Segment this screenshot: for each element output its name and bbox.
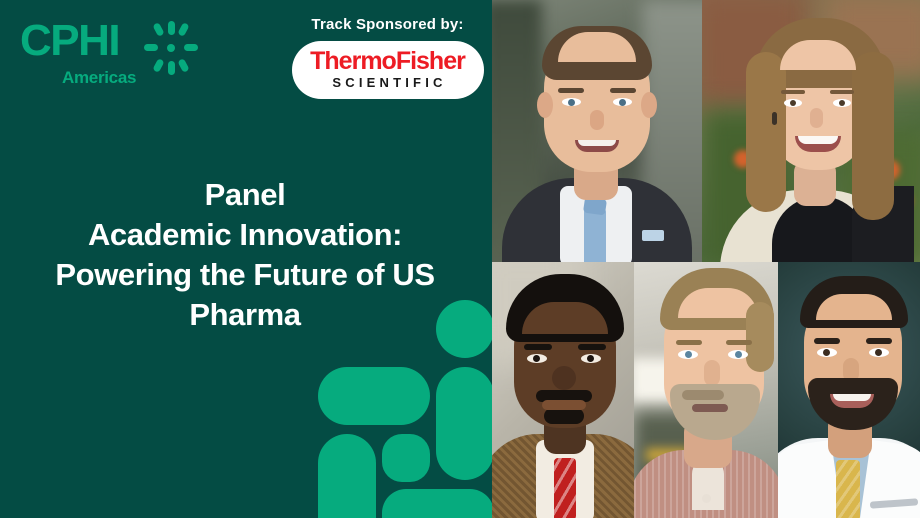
panelist-photo-4 bbox=[634, 262, 778, 518]
panelist-row-bottom bbox=[492, 262, 920, 518]
panelist-photo-3 bbox=[492, 262, 634, 518]
thermo-fisher-brand-sub: SCIENTIFIC bbox=[328, 75, 446, 91]
deco-pill-vertical-left bbox=[318, 434, 376, 518]
page-title: Panel Academic Innovation: Powering the … bbox=[10, 175, 480, 335]
headline-line-2: Academic Innovation: bbox=[10, 215, 480, 255]
panelist-photo-1 bbox=[492, 0, 702, 262]
thermo-fisher-brand-name: ThermoFisher bbox=[310, 49, 465, 74]
panelist-photo-2 bbox=[702, 0, 920, 262]
deco-pill-horizontal-bottom bbox=[382, 489, 492, 518]
left-content-panel: CPHI Americas Track Sponsored by: Thermo… bbox=[0, 0, 492, 518]
radial-burst-icon bbox=[144, 21, 198, 75]
headline-line-4: Pharma bbox=[10, 295, 480, 335]
headline-line-3: Powering the Future of US bbox=[10, 255, 480, 295]
deco-pill-horizontal-large bbox=[318, 367, 430, 425]
sponsor-label: Track Sponsored by: bbox=[280, 16, 492, 33]
deco-pill-vertical-right bbox=[436, 367, 492, 480]
cphi-americas-logo[interactable]: CPHI Americas bbox=[20, 18, 190, 90]
cphi-wordmark: CPHI bbox=[20, 18, 119, 64]
headline-line-1: Panel bbox=[10, 175, 480, 215]
panelist-photo-grid bbox=[492, 0, 920, 518]
panelist-photo-5 bbox=[778, 262, 920, 518]
event-promo-banner: CPHI Americas Track Sponsored by: Thermo… bbox=[0, 0, 920, 518]
thermo-fisher-logo[interactable]: ThermoFisher SCIENTIFIC bbox=[292, 41, 484, 99]
deco-squircle-center bbox=[382, 434, 430, 482]
cphi-region-label: Americas bbox=[62, 68, 136, 88]
panelist-row-top bbox=[492, 0, 920, 262]
sponsor-block: Track Sponsored by: ThermoFisher SCIENTI… bbox=[280, 16, 492, 99]
